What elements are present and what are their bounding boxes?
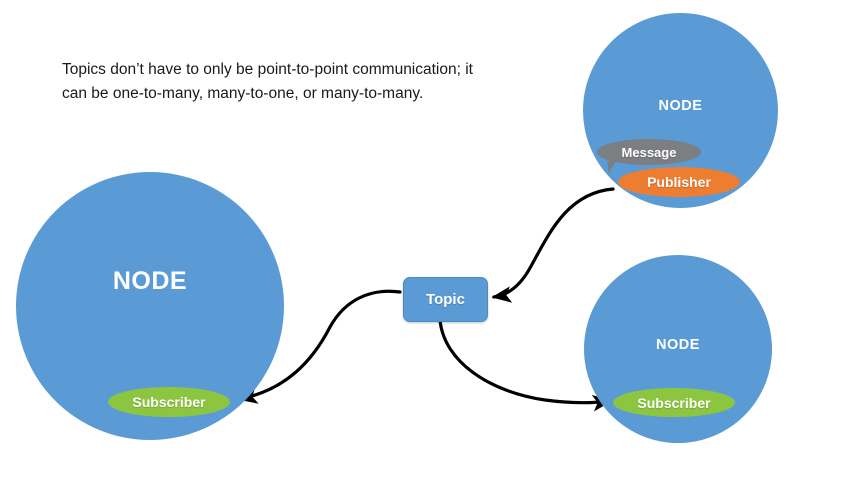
node-bottom-right-label: NODE bbox=[584, 337, 772, 353]
publisher-pill-label: Publisher bbox=[647, 174, 711, 190]
subscriber-pill-bottom-right-label: Subscriber bbox=[637, 395, 710, 411]
node-top-right-label: NODE bbox=[583, 98, 778, 114]
message-bubble[interactable]: Message bbox=[597, 139, 701, 165]
message-bubble-label: Message bbox=[622, 145, 677, 160]
arrow-publisher-to-topic bbox=[494, 189, 613, 297]
slide-canvas: Topics don’t have to only be point-to-po… bbox=[0, 0, 854, 480]
subscriber-pill-left[interactable]: Subscriber bbox=[108, 387, 230, 417]
topic-box[interactable]: Topic bbox=[403, 277, 488, 322]
subscriber-pill-left-label: Subscriber bbox=[132, 394, 205, 410]
topic-box-label: Topic bbox=[426, 291, 465, 308]
node-left-label: NODE bbox=[16, 267, 284, 296]
caption-text: Topics don’t have to only be point-to-po… bbox=[62, 58, 482, 106]
publisher-pill[interactable]: Publisher bbox=[618, 167, 740, 197]
subscriber-pill-bottom-right[interactable]: Subscriber bbox=[613, 388, 735, 417]
